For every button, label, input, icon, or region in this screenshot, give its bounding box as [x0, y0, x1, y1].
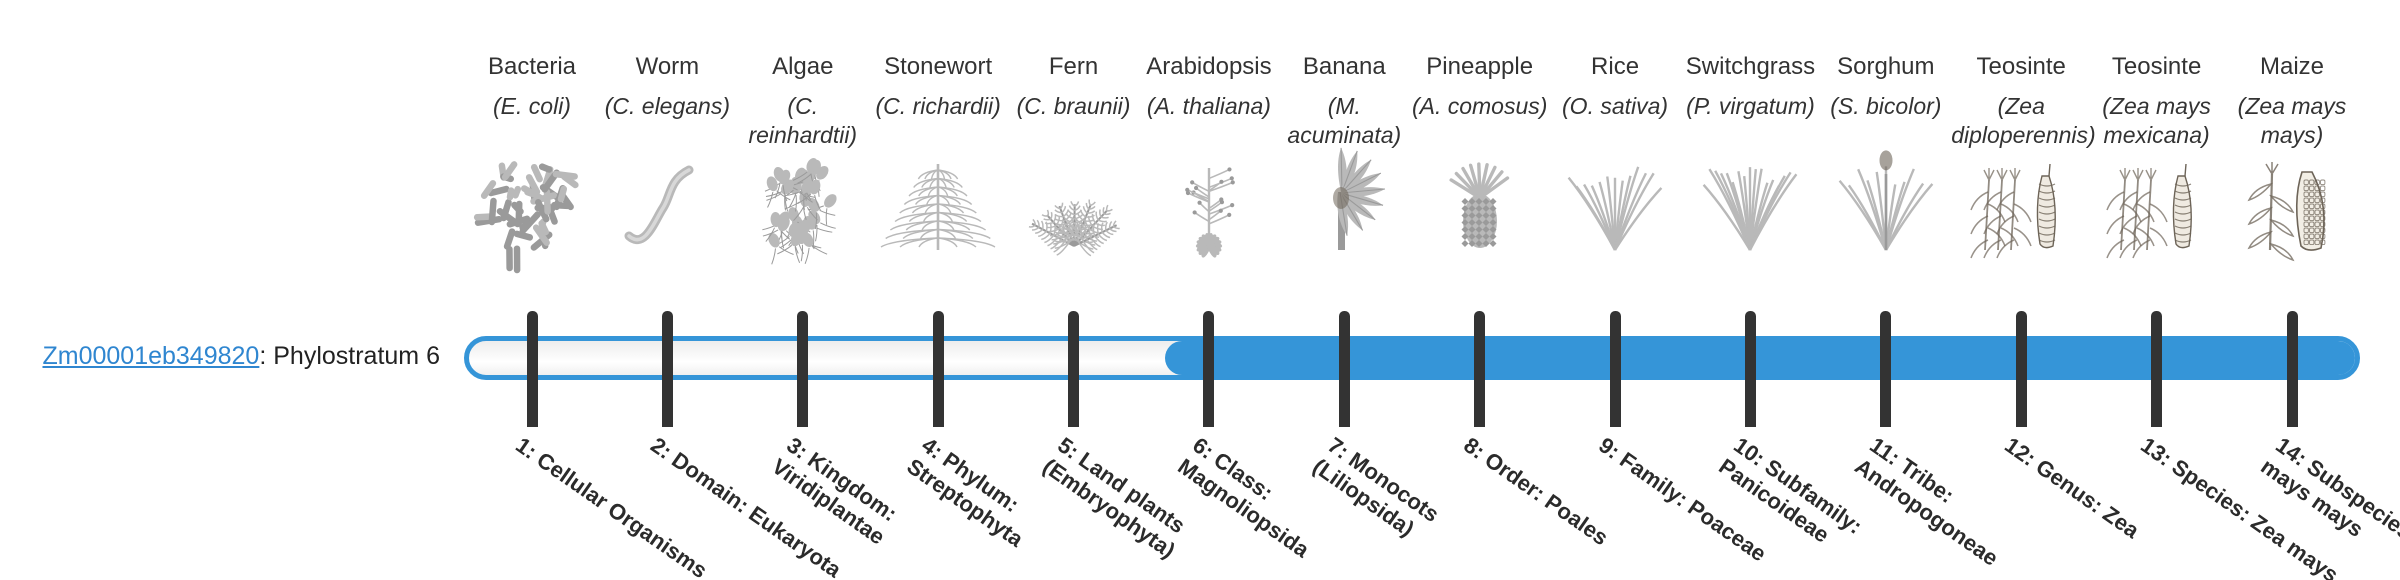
- stratum-rank: Species:: [2167, 454, 2255, 526]
- stratum-rank: Cellular: [532, 447, 612, 514]
- gene-id-link[interactable]: Zm00001eb349820: [42, 342, 259, 370]
- phylostratum-value: Phylostratum 6: [273, 342, 440, 370]
- stratum-taxon: Poales: [1540, 489, 1612, 550]
- gene-label-separator: :: [259, 342, 273, 370]
- stratum-taxon: Organisms: [603, 497, 711, 580]
- stratum-rank: Order:: [1480, 447, 1549, 506]
- stratum-labels: 1: Cellular Organisms2: Domain: Eukaryot…: [464, 0, 2360, 580]
- stratum-rank: Genus:: [2032, 454, 2108, 518]
- gene-row-label: Zm00001eb349820: Phylostratum 6: [0, 340, 440, 372]
- phylostratum-figure: Bacteria(E. coli)Worm(C. elegans) Algae(…: [0, 0, 2400, 580]
- stratum-rank: Domain:: [668, 447, 754, 518]
- stratum-rank: Family:: [1615, 447, 1692, 512]
- stratum-taxon: Zea: [2099, 501, 2144, 543]
- stratum-number: 12:: [2000, 432, 2040, 471]
- stratum-number: 13:: [2136, 432, 2176, 471]
